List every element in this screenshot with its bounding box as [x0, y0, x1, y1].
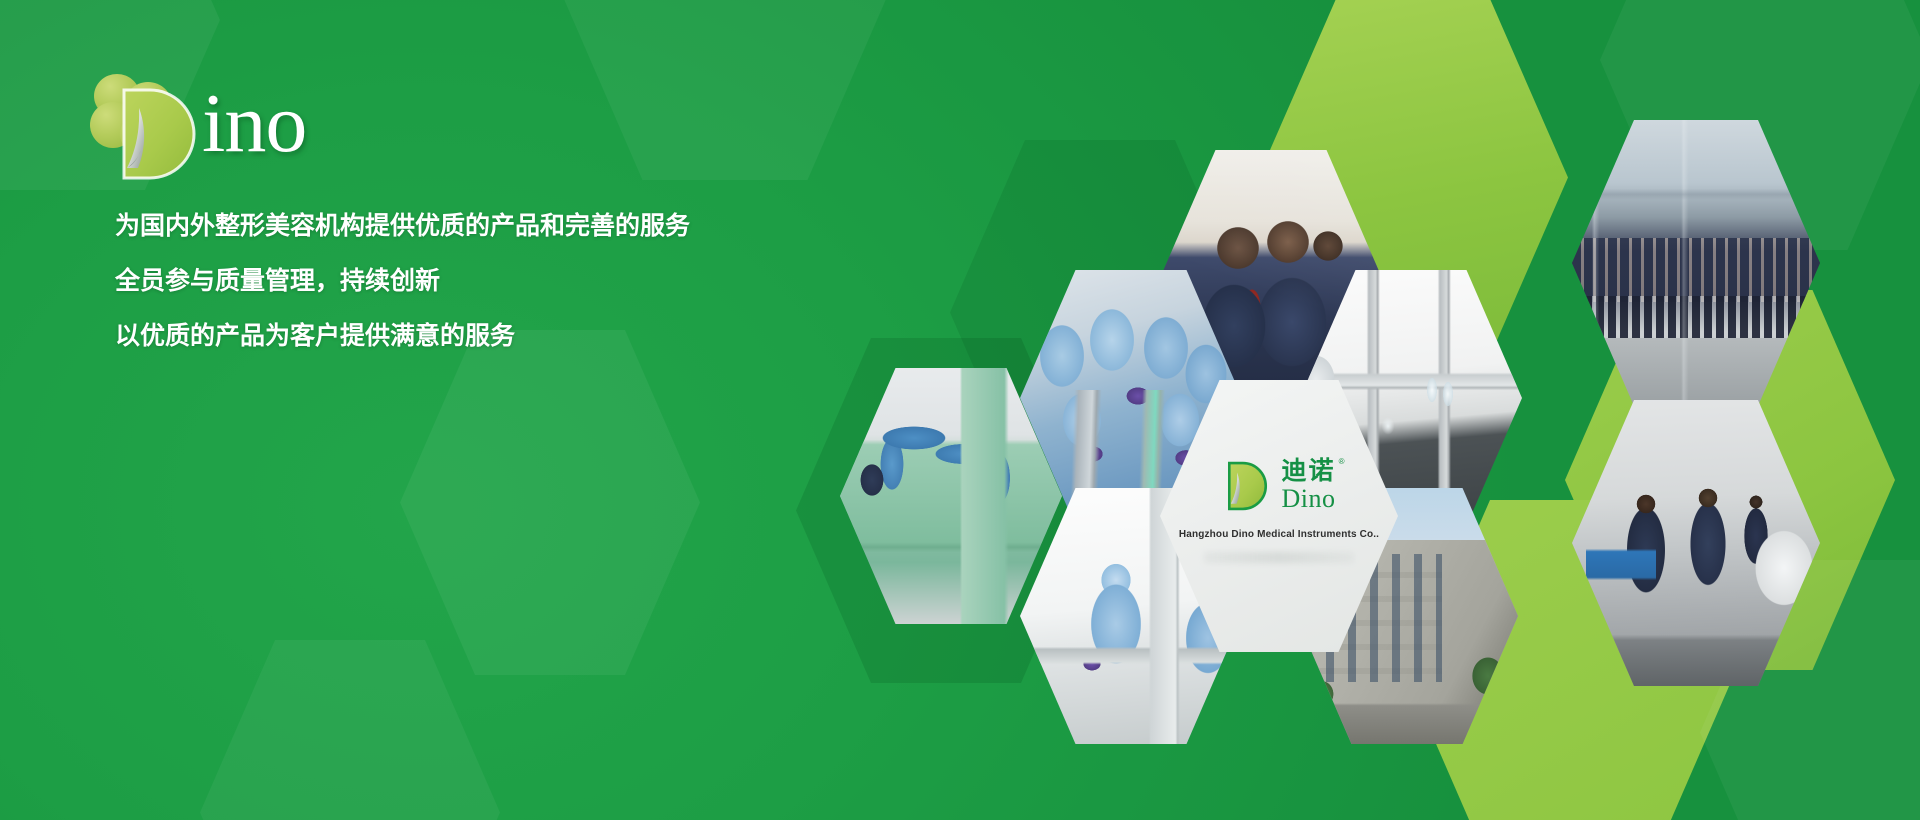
- registered-trademark-icon: ®: [1339, 457, 1345, 466]
- dino-wordmark: ino: [202, 82, 306, 166]
- hero-copy-block: ino 为国内外整形美容机构提供优质的产品和完善的服务 全员参与质量管理，持续创…: [0, 0, 820, 820]
- company-full-name: Hangzhou Dino Medical Instruments Co..: [1179, 529, 1379, 540]
- brand-name-en: Dino: [1281, 485, 1335, 512]
- blurred-placeholder-text: [1204, 552, 1354, 563]
- company-hero-banner: ino 为国内外整形美容机构提供优质的产品和完善的服务 全员参与质量管理，持续创…: [0, 0, 1920, 820]
- brand-name-cn: 迪诺: [1281, 459, 1335, 484]
- dino-logo-lockup: ino: [90, 72, 410, 182]
- dino-d-monogram-small-icon: [1222, 461, 1272, 511]
- dino-d-monogram-icon: [110, 86, 206, 182]
- brand-logo-mark: 迪诺 ® Dino: [1222, 459, 1335, 512]
- brand-hexagon-card: 迪诺 ® Dino Hangzhou Dino Medical Instrume…: [1160, 380, 1398, 652]
- tagline-3: 以优质的产品为客户提供满意的服务: [115, 322, 815, 350]
- photo-hex-staff-group-photo: [1572, 120, 1820, 406]
- photo-hex-cnc-machining-operators: [1572, 400, 1820, 686]
- tagline-list: 为国内外整形美容机构提供优质的产品和完善的服务 全员参与质量管理，持续创新 以优…: [115, 212, 815, 377]
- tagline-2: 全员参与质量管理，持续创新: [115, 267, 815, 295]
- tagline-1: 为国内外整形美容机构提供优质的产品和完善的服务: [115, 212, 815, 240]
